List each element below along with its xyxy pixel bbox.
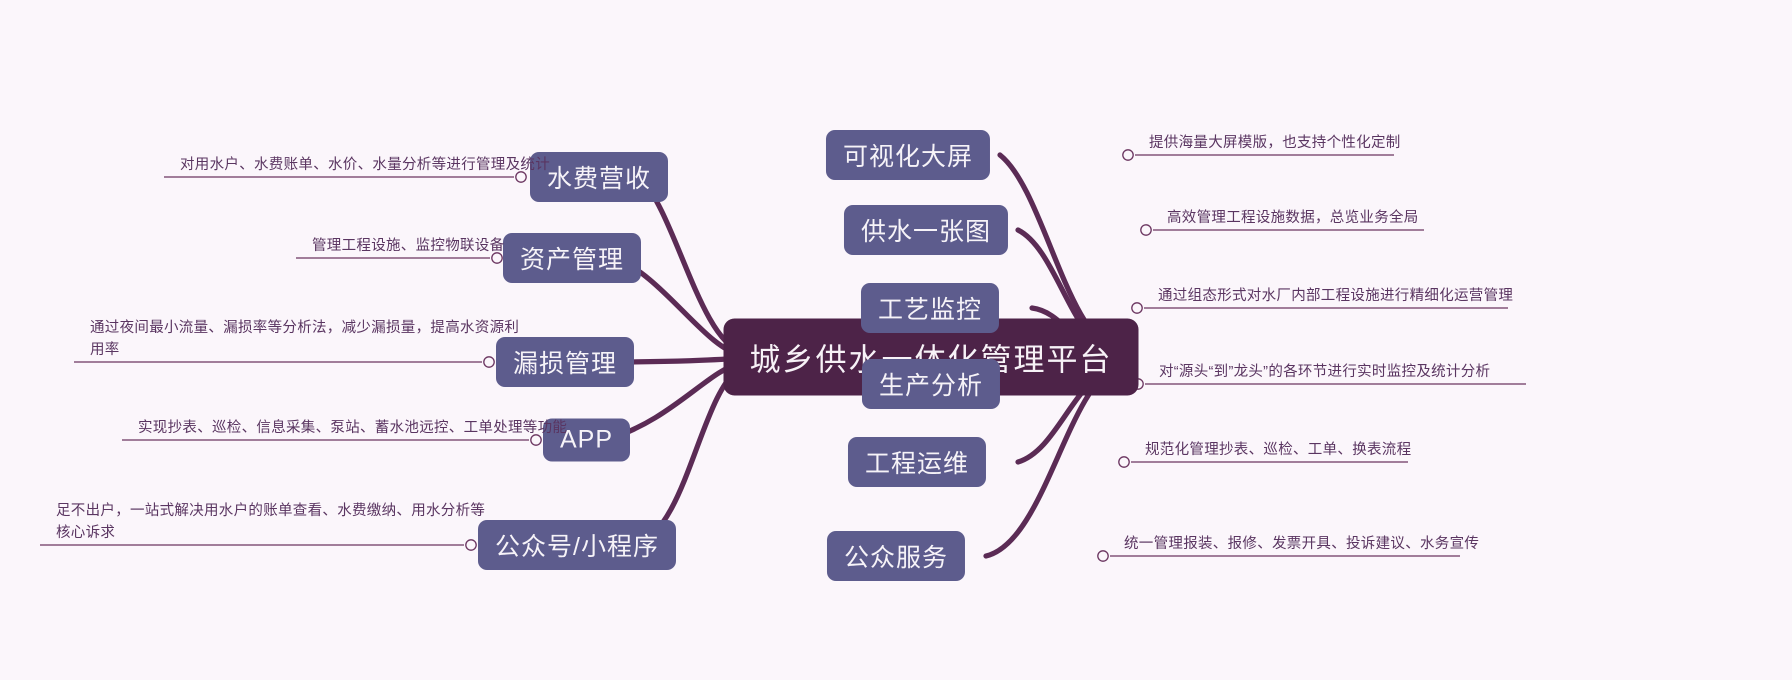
note-endpoint-right-1 <box>1123 150 1133 160</box>
branch-node-label: 水费营收 <box>547 159 651 195</box>
branch-node-right-3[interactable]: 工艺监控 <box>861 283 999 333</box>
branch-note-left-5: 足不出户，一站式解决用水户的账单查看、水费缴纳、用水分析等 核心诉求 <box>56 500 485 544</box>
branch-node-label: 公众号/小程序 <box>495 527 659 563</box>
branch-node-left-2[interactable]: 资产管理 <box>503 233 641 283</box>
note-endpoint-right-3 <box>1132 303 1142 313</box>
branch-node-left-5[interactable]: 公众号/小程序 <box>478 520 676 570</box>
branch-node-right-5[interactable]: 工程运维 <box>848 437 986 487</box>
branch-node-right-2[interactable]: 供水一张图 <box>844 205 1008 255</box>
branch-note-right-3: 通过组态形式对水厂内部工程设施进行精细化运营管理 <box>1158 285 1513 307</box>
branch-node-label: 工艺监控 <box>878 290 982 326</box>
note-endpoint-right-5 <box>1119 457 1129 467</box>
branch-node-label: APP <box>560 426 613 455</box>
branch-node-right-6[interactable]: 公众服务 <box>827 531 965 581</box>
note-endpoint-right-6 <box>1098 551 1108 561</box>
branch-note-left-1: 对用水户、水费账单、水价、水量分析等进行管理及统计 <box>180 154 550 176</box>
branch-node-label: 可视化大屏 <box>843 137 973 173</box>
branch-node-left-1[interactable]: 水费营收 <box>530 152 668 202</box>
mindmap-canvas: 城乡供水一体化管理平台 水费营收 资产管理 漏损管理 APP 公众号/小程序 可… <box>0 0 1792 680</box>
branch-note-left-2: 管理工程设施、监控物联设备 <box>312 235 504 257</box>
branch-note-right-2: 高效管理工程设施数据，总览业务全局 <box>1167 207 1419 229</box>
branch-note-right-1: 提供海量大屏模版，也支持个性化定制 <box>1149 132 1401 154</box>
branch-note-right-4: 对“源头“到”龙头”的各环节进行实时监控及统计分析 <box>1159 361 1490 383</box>
branch-node-label: 生产分析 <box>879 366 983 402</box>
note-endpoint-right-2 <box>1141 225 1151 235</box>
branch-node-right-1[interactable]: 可视化大屏 <box>826 130 990 180</box>
branch-node-label: 供水一张图 <box>861 212 991 248</box>
branch-node-label: 资产管理 <box>520 240 624 276</box>
branch-node-label: 漏损管理 <box>513 344 617 380</box>
branch-note-left-4: 实现抄表、巡检、信息采集、泵站、蓄水池远控、工单处理等功能 <box>138 417 567 439</box>
branch-node-right-4[interactable]: 生产分析 <box>862 359 1000 409</box>
branch-note-left-3: 通过夜间最小流量、漏损率等分析法，减少漏损量，提高水资源利 用率 <box>90 317 519 361</box>
branch-node-label: 工程运维 <box>865 444 969 480</box>
branch-node-label: 公众服务 <box>844 538 948 574</box>
branch-note-right-5: 规范化管理抄表、巡检、工单、换表流程 <box>1145 439 1411 461</box>
branch-note-right-6: 统一管理报装、报修、发票开具、投诉建议、水务宣传 <box>1124 533 1479 555</box>
